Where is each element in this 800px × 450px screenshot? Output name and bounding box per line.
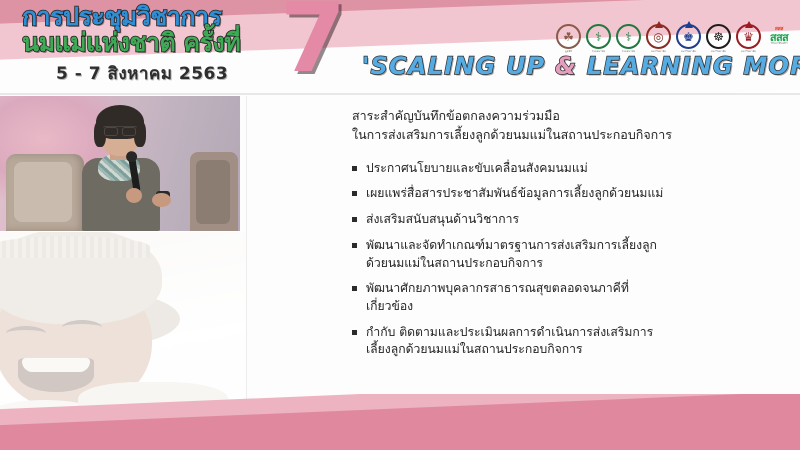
bullet-square-icon xyxy=(352,217,357,222)
list-item: เผยแพร่สื่อสารประชาสัมพันธ์ข้อมูลการเลี้… xyxy=(352,185,764,203)
child-eye-right xyxy=(62,320,102,335)
list-item: พัฒนาและจัดทำเกณฑ์มาตรฐานการส่งเสริมการเ… xyxy=(352,237,764,272)
slide-content: สาระสำคัญบันทึกข้อตกลงความร่วมมือ ในการส… xyxy=(352,106,764,367)
tagline-ampersand: & xyxy=(555,52,577,80)
child-photo-layers xyxy=(0,232,247,416)
header-bottom-rule xyxy=(0,93,800,95)
bullet-square-icon xyxy=(352,330,357,335)
list-item-line1: กำกับ ติดตามและประเมินผลการดำเนินการส่งเ… xyxy=(366,325,653,339)
bullet-square-icon xyxy=(352,191,357,196)
list-item-line2: ด้วยนมแม่ในสถานประกอบกิจการ xyxy=(366,255,764,273)
logo-university-seal-blue: ♚ มหาวิทยาลัย xyxy=(676,24,701,49)
logo-thaihealth-caption: THAI HEALTH xyxy=(771,43,788,46)
child-hat-band xyxy=(0,236,150,258)
armchair-left xyxy=(6,154,84,231)
eyeglasses-icon xyxy=(103,126,137,135)
list-item-line1: เผยแพร่สื่อสารประชาสัมพันธ์ข้อมูลการเลี้… xyxy=(366,186,663,200)
logo-university-seal-black-caption: มหาวิทยาลัย xyxy=(706,50,731,54)
list-item-line1: พัฒนาและจัดทำเกณฑ์มาตรฐานการส่งเสริมการเ… xyxy=(366,238,657,252)
list-item: กำกับ ติดตามและประเมินผลการดำเนินการส่งเ… xyxy=(352,324,764,359)
tagline-part-1: 'SCALING UP xyxy=(362,52,555,80)
column-divider xyxy=(246,96,247,414)
logo-university-seal-black: ☸ มหาวิทยาลัย xyxy=(706,24,731,49)
conference-date: 5 - 7 สิงหาคม 2563 xyxy=(56,60,322,87)
tagline-part-2: LEARNING MORE' xyxy=(577,52,800,80)
slide-header-banner: การประชุมวิชาการ นมแม่แห่งชาติ ครั้งที่ … xyxy=(0,0,800,95)
list-item: ส่งเสริมสนับสนุนด้านวิชาการ xyxy=(352,211,764,229)
logo-university-seal-black-icon: ☸ xyxy=(706,24,731,49)
logo-university-seal-maroon-icon: ♛ xyxy=(736,24,761,49)
logo-university-seal-blue-icon: ♚ xyxy=(676,24,701,49)
logo-royal-emblem-caption: มูลนิธิ xyxy=(556,50,581,54)
armchair-right xyxy=(190,152,238,231)
logo-thaihealth-sss: สสส สสส THAI HEALTH xyxy=(766,24,792,49)
logo-university-seal-blue-caption: มหาวิทยาลัย xyxy=(676,50,701,54)
logo-health-department-caption: กรมอนามัย xyxy=(616,50,641,54)
conference-title-line1: การประชุมวิชาการ xyxy=(22,4,322,30)
list-item-text: พัฒนาและจัดทำเกณฑ์มาตรฐานการส่งเสริมการเ… xyxy=(366,237,764,272)
list-item-line1: ส่งเสริมสนับสนุนด้านวิชาการ xyxy=(366,212,519,226)
list-item-line1: ประกาศนโยบายและขับเคลื่อนสังคมนมแม่ xyxy=(366,161,588,175)
list-item: พัฒนาศักยภาพบุคลากรสาธารณสุขตลอดจนภาคีที… xyxy=(352,280,764,315)
conference-tagline: 'SCALING UP & LEARNING MORE' xyxy=(362,52,800,80)
bullet-square-icon xyxy=(352,166,357,171)
logo-university-seal-maroon: ♛ มหาวิทยาลัย xyxy=(736,24,761,49)
list-item-line1: พัฒนาศักยภาพบุคลากรสาธารณสุขตลอดจนภาคีที… xyxy=(366,281,629,295)
child-eye-left xyxy=(6,326,46,341)
logo-university-seal-red-caption: มหาวิทยาลัย xyxy=(646,50,671,54)
bullet-square-icon xyxy=(352,243,357,248)
conference-title-block: การประชุมวิชาการ นมแม่แห่งชาติ ครั้งที่ … xyxy=(22,4,322,87)
speaker-hand-left xyxy=(126,188,142,203)
list-item-text: กำกับ ติดตามและประเมินผลการดำเนินการส่งเ… xyxy=(366,324,764,359)
logo-health-department-icon: ⚕ xyxy=(616,24,641,49)
speaker-hand-right xyxy=(152,193,171,207)
child-photo-faded xyxy=(0,232,247,416)
logo-university-seal-red: ◎ มหาวิทยาลัย xyxy=(646,24,671,49)
logo-university-seal-maroon-caption: มหาวิทยาลัย xyxy=(736,50,761,54)
logo-royal-emblem-icon: ☘ xyxy=(556,24,581,49)
list-item-line2: เลี้ยงลูกด้วยนมแม่ในสถานประกอบกิจการ xyxy=(366,341,764,359)
logo-royal-emblem: ☘ มูลนิธิ xyxy=(556,24,581,49)
left-media-column xyxy=(0,96,247,416)
list-item: ประกาศนโยบายและขับเคลื่อนสังคมนมแม่ xyxy=(352,160,764,178)
speaker-video-still xyxy=(0,96,240,232)
slide-footer-band xyxy=(0,394,800,450)
bullet-square-icon xyxy=(352,286,357,291)
sponsor-logos-row: ☘ มูลนิธิ ⚕ กรมอนามัย ⚕ กรมอนามัย ◎ มหาว… xyxy=(556,24,792,49)
list-item-text: พัฒนาศักยภาพบุคลากรสาธารณสุขตลอดจนภาคีที… xyxy=(366,280,764,315)
content-heading-line1: สาระสำคัญบันทึกข้อตกลงความร่วมมือ xyxy=(352,106,764,125)
content-heading-line2: ในการส่งเสริมการเลี้ยงลูกด้วยนมแม่ในสถาน… xyxy=(352,125,764,144)
list-item-text: เผยแพร่สื่อสารประชาสัมพันธ์ข้อมูลการเลี้… xyxy=(366,185,764,203)
content-heading: สาระสำคัญบันทึกข้อตกลงความร่วมมือ ในการส… xyxy=(352,106,764,145)
footer-band-base xyxy=(0,436,800,450)
presentation-slide: การประชุมวิชาการ นมแม่แห่งชาติ ครั้งที่ … xyxy=(0,0,800,450)
logo-university-seal-red-icon: ◎ xyxy=(646,24,671,49)
logo-ministry-public-health: ⚕ กรมอนามัย xyxy=(586,24,611,49)
list-item-line2: เกี่ยวข้อง xyxy=(366,298,764,316)
conference-title-line2: นมแม่แห่งชาติ ครั้งที่ xyxy=(22,29,322,57)
logo-health-department: ⚕ กรมอนามัย xyxy=(616,24,641,49)
logo-ministry-public-health-caption: กรมอนามัย xyxy=(586,50,611,54)
logo-ministry-public-health-icon: ⚕ xyxy=(586,24,611,49)
child-teeth xyxy=(22,358,90,372)
bullet-list: ประกาศนโยบายและขับเคลื่อนสังคมนมแม่ เผยแ… xyxy=(352,160,764,359)
list-item-text: ส่งเสริมสนับสนุนด้านวิชาการ xyxy=(366,211,764,229)
list-item-text: ประกาศนโยบายและขับเคลื่อนสังคมนมแม่ xyxy=(366,160,764,178)
